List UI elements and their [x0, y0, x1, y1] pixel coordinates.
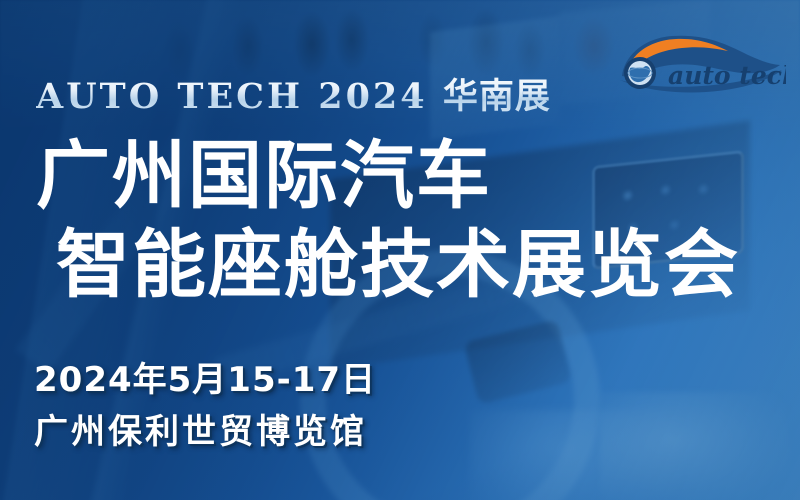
banner-eyebrow-en: AUTO TECH 2024 — [36, 76, 428, 117]
banner-headline-line1: 广州国际汽车 — [30, 140, 740, 213]
exhibition-banner: auto tech AUTO TECH 2024 华南展 广州国际汽车 智能座舱… — [0, 0, 800, 500]
banner-venue: 广州保利世贸博览馆 — [34, 404, 367, 453]
banner-eyebrow: AUTO TECH 2024 华南展 — [36, 68, 551, 119]
banner-headline: 广州国际汽车 智能座舱技术展览会 — [30, 140, 740, 301]
banner-eyebrow-cn: 华南展 — [443, 77, 551, 117]
banner-date: 2024年5月15-17日 — [34, 352, 376, 401]
banner-text-block: AUTO TECH 2024 华南展 广州国际汽车 智能座舱技术展览会 2024… — [0, 0, 800, 500]
banner-headline-line2: 智能座舱技术展览会 — [30, 229, 740, 302]
